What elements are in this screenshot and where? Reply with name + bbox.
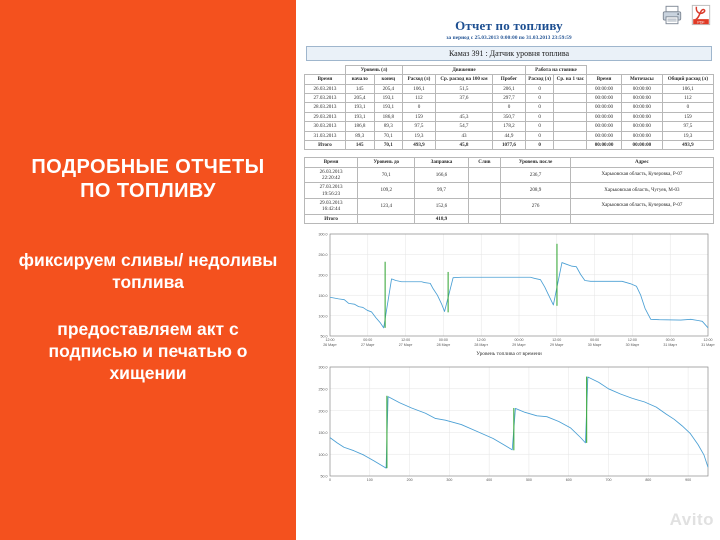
- col-level-end: конец: [374, 75, 403, 84]
- svg-text:300: 300: [446, 478, 452, 482]
- table-total-cell: 493,9: [403, 140, 436, 149]
- table-cell: 106,1: [403, 84, 436, 93]
- table-cell: [554, 103, 587, 112]
- svg-text:00:00: 00:00: [666, 338, 675, 342]
- col-mileage: Пробег: [493, 75, 526, 84]
- events-total-cell: [570, 214, 713, 223]
- fuel-summary-body: 26.03.2013145205,4106,151,5206,1000:00:0…: [305, 84, 714, 150]
- table-cell: [554, 131, 587, 140]
- table-cell: 00:00:00: [587, 84, 622, 93]
- event-cell: 208,9: [501, 183, 571, 199]
- svg-text:300.0: 300.0: [319, 366, 328, 370]
- col-idle-consumption: Расход (л): [525, 75, 554, 84]
- event-cell: 29.03.201316:42:44: [305, 199, 358, 215]
- event-cell: 27.03.201319:56:23: [305, 183, 358, 199]
- promo-line-1: фиксируем сливы/ недоливы топлива: [16, 250, 280, 294]
- chart1-axis-title: Уровень топлива от времени: [304, 351, 714, 357]
- ev-col-level-after: Уровень после: [501, 158, 571, 167]
- table-row: 29.03.2013193,1186,815945,3350,7000:00:0…: [305, 112, 714, 121]
- ev-col-level-before: Уровень до: [358, 158, 415, 167]
- table-total-cell: Итого: [305, 140, 346, 149]
- svg-text:29 Март: 29 Март: [512, 343, 526, 347]
- table-total-cell: 00:00:00: [621, 140, 662, 149]
- table-cell: 27.03.2013: [305, 94, 346, 103]
- svg-text:600: 600: [566, 478, 572, 482]
- svg-text:12:00: 12:00: [628, 338, 637, 342]
- events-total-cell: [358, 214, 415, 223]
- pdf-icon[interactable]: PDF: [690, 4, 712, 26]
- table-total-cell: 493,9: [662, 140, 713, 149]
- svg-text:30 Март: 30 Март: [588, 343, 602, 347]
- table-cell: 205,4: [374, 84, 403, 93]
- svg-text:200: 200: [407, 478, 413, 482]
- table-cell: 205,4: [345, 94, 374, 103]
- svg-text:200.0: 200.0: [319, 274, 328, 278]
- chart-level-vs-time-svg: 50.0100.0150.0200.0250.0300.012:0026 Мар…: [304, 230, 716, 352]
- event-address: Харьковская область, Чугуев, М-03: [570, 183, 713, 199]
- svg-text:50.0: 50.0: [321, 475, 328, 479]
- chart-level-vs-mileage: 50.0100.0150.0200.0250.0300.001002003004…: [304, 363, 714, 488]
- table-cell: 0: [662, 103, 713, 112]
- table-cell: 00:00:00: [587, 122, 622, 131]
- table-cell: 193,1: [345, 112, 374, 121]
- table-cell: 19,3: [403, 131, 436, 140]
- svg-text:29 Март: 29 Март: [550, 343, 564, 347]
- table-cell: 29.03.2013: [305, 112, 346, 121]
- group-header-blank-4: [662, 66, 713, 75]
- promo-title: ПОДРОБНЫЕ ОТЧЕТЫ ПО ТОПЛИВУ: [16, 155, 280, 204]
- report-toolbar: PDF: [661, 4, 712, 26]
- table-cell: 70,1: [374, 131, 403, 140]
- event-cell: 152,6: [415, 199, 468, 215]
- table-row: 31.03.201389,370,119,34344,9000:00:0000:…: [305, 131, 714, 140]
- group-header-level: Уровень (л): [345, 66, 402, 75]
- table-cell: 19,3: [662, 131, 713, 140]
- table-cell: 206,1: [493, 84, 526, 93]
- col-level-start: начало: [345, 75, 374, 84]
- svg-text:250.0: 250.0: [319, 388, 328, 392]
- events-total-cell: [468, 214, 501, 223]
- event-cell: 70,1: [358, 167, 415, 183]
- list-item: 29.03.201316:42:44123,4152,6276Харьковск…: [305, 199, 714, 215]
- table-total-cell: 45,8: [435, 140, 492, 149]
- events-header-row: Время Уровень до Заправка Слив Уровень п…: [305, 158, 714, 167]
- ev-col-refuel: Заправка: [415, 158, 468, 167]
- table-row: 30.03.2013186,889,397,554,7178,2000:00:0…: [305, 122, 714, 131]
- svg-text:28 Март: 28 Март: [437, 343, 451, 347]
- table-row: 26.03.2013145205,4106,151,5206,1000:00:0…: [305, 84, 714, 93]
- table-cell: 0: [525, 122, 554, 131]
- table-cell: 30.03.2013: [305, 122, 346, 131]
- event-cell: [468, 199, 501, 215]
- table-cell: 0: [493, 103, 526, 112]
- page-title: Отчет по топливу: [304, 18, 714, 34]
- table-cell: 159: [662, 112, 713, 121]
- svg-text:800: 800: [645, 478, 651, 482]
- event-cell: 276: [501, 199, 571, 215]
- table-total-cell: 70,1: [374, 140, 403, 149]
- table-cell: 00:00:00: [587, 131, 622, 140]
- svg-text:26 Март: 26 Март: [323, 343, 337, 347]
- table-group-header-row: Уровень (л) Движение Работа на стоянке: [305, 66, 714, 75]
- svg-text:500: 500: [526, 478, 532, 482]
- table-cell: 0: [403, 103, 436, 112]
- table-cell: 97,5: [403, 122, 436, 131]
- event-cell: 236,7: [501, 167, 571, 183]
- table-total-cell: 1077,6: [493, 140, 526, 149]
- table-total-cell: 145: [345, 140, 374, 149]
- svg-text:100.0: 100.0: [319, 314, 328, 318]
- group-header-blank-3: [621, 66, 662, 75]
- svg-text:400: 400: [486, 478, 492, 482]
- table-row: 28.03.2013193,1193,100000:00:0000:00:000: [305, 103, 714, 112]
- events-total-cell: 418,9: [415, 214, 468, 223]
- svg-text:300.0: 300.0: [319, 233, 328, 237]
- avito-watermark: Avito: [670, 510, 714, 530]
- svg-text:12:00: 12:00: [704, 338, 713, 342]
- fuel-events-table: Время Уровень до Заправка Слив Уровень п…: [304, 157, 714, 224]
- report-panel: PDF Отчет по топливу за период с 25.03.2…: [296, 0, 720, 540]
- svg-text:28 Март: 28 Март: [474, 343, 488, 347]
- table-cell: 45,3: [435, 112, 492, 121]
- ev-col-address: Адрес: [570, 158, 713, 167]
- fuel-events-body: 26.03.201322:20:4270,1166,6236,7Харьковс…: [305, 167, 714, 224]
- event-address: Харьковская область, Кучеровка, Р-07: [570, 167, 713, 183]
- events-total-row: Итого418,9: [305, 214, 714, 223]
- svg-text:00:00: 00:00: [363, 338, 372, 342]
- table-cell: 297,7: [493, 94, 526, 103]
- table-cell: 00:00:00: [621, 112, 662, 121]
- table-cell: 0: [525, 131, 554, 140]
- table-cell: 51,5: [435, 84, 492, 93]
- table-cell: 0: [525, 94, 554, 103]
- svg-text:31 Март: 31 Март: [663, 343, 677, 347]
- table-cell: [435, 103, 492, 112]
- table-cell: 145: [345, 84, 374, 93]
- table-cell: 106,1: [662, 84, 713, 93]
- events-total-cell: [501, 214, 571, 223]
- table-cell: 00:00:00: [587, 94, 622, 103]
- col-avg-per-100km: Ср. расход на 100 км: [435, 75, 492, 84]
- event-address: Харьковская область, Кучеровка, Р-07: [570, 199, 713, 215]
- table-cell: 00:00:00: [621, 94, 662, 103]
- table-cell: 00:00:00: [621, 103, 662, 112]
- svg-text:PDF: PDF: [697, 20, 705, 24]
- table-cell: [554, 112, 587, 121]
- table-total-cell: 00:00:00: [587, 140, 622, 149]
- table-cell: 159: [403, 112, 436, 121]
- svg-text:100.0: 100.0: [319, 453, 328, 457]
- table-cell: 43: [435, 131, 492, 140]
- event-cell: 166,6: [415, 167, 468, 183]
- fuel-summary-table: Уровень (л) Движение Работа на стоянке В…: [304, 65, 714, 150]
- table-cell: 0: [525, 103, 554, 112]
- table-cell: 193,1: [345, 103, 374, 112]
- table-total-row: Итого14570,1493,945,81077,6000:00:0000:0…: [305, 140, 714, 149]
- svg-text:200.0: 200.0: [319, 409, 328, 413]
- print-icon[interactable]: [661, 4, 683, 26]
- svg-text:100: 100: [367, 478, 373, 482]
- ev-col-time: Время: [305, 158, 358, 167]
- table-cell: 186,8: [374, 112, 403, 121]
- chart-level-vs-mileage-svg: 50.0100.0150.0200.0250.0300.001002003004…: [304, 363, 716, 488]
- table-cell: 28.03.2013: [305, 103, 346, 112]
- svg-text:00:00: 00:00: [515, 338, 524, 342]
- col-avg-per-hour: Ср. на 1 час: [554, 75, 587, 84]
- group-header-idle: Работа на стоянке: [525, 66, 586, 75]
- svg-text:700: 700: [606, 478, 612, 482]
- table-cell: 89,3: [345, 131, 374, 140]
- list-item: 26.03.201322:20:4270,1166,6236,7Харьковс…: [305, 167, 714, 183]
- promo-line-2: предоставляем акт с подписью и печатью о…: [16, 319, 280, 385]
- svg-text:00:00: 00:00: [439, 338, 448, 342]
- svg-text:27 Март: 27 Март: [399, 343, 413, 347]
- table-cell: 00:00:00: [587, 103, 622, 112]
- table-cell: 0: [525, 112, 554, 121]
- table-cell: 97,5: [662, 122, 713, 131]
- table-cell: 112: [662, 94, 713, 103]
- event-cell: [468, 167, 501, 183]
- table-cell: 178,2: [493, 122, 526, 131]
- table-cell: 186,8: [345, 122, 374, 131]
- report-period: за период с 25.03.2013 0:00:00 по 31.03.…: [304, 35, 714, 41]
- object-bar: Камаз 391 : Датчик уровня топлива: [306, 46, 712, 61]
- table-cell: 00:00:00: [587, 112, 622, 121]
- table-cell: [554, 94, 587, 103]
- table-cell: 44,9: [493, 131, 526, 140]
- events-total-cell: Итого: [305, 214, 358, 223]
- table-header-row: Время начало конец Расход (л) Ср. расход…: [305, 75, 714, 84]
- svg-text:00:00: 00:00: [590, 338, 599, 342]
- table-cell: 350,7: [493, 112, 526, 121]
- promo-panel: ПОДРОБНЫЕ ОТЧЕТЫ ПО ТОПЛИВУ фиксируем сл…: [0, 0, 296, 540]
- table-row: 27.03.2013205,4193,111237,6297,7000:00:0…: [305, 94, 714, 103]
- event-cell: [468, 183, 501, 199]
- table-cell: 54,7: [435, 122, 492, 131]
- table-total-cell: [554, 140, 587, 149]
- table-cell: 00:00:00: [621, 84, 662, 93]
- svg-text:12:00: 12:00: [552, 338, 561, 342]
- svg-text:31 Март: 31 Март: [701, 343, 715, 347]
- group-header-blank-2: [587, 66, 622, 75]
- table-cell: 37,6: [435, 94, 492, 103]
- group-header-blank: [305, 66, 346, 75]
- table-cell: 31.03.2013: [305, 131, 346, 140]
- svg-text:900: 900: [685, 478, 691, 482]
- col-time: Время: [305, 75, 346, 84]
- chart-level-vs-time: 50.0100.0150.0200.0250.0300.012:0026 Мар…: [304, 230, 714, 357]
- table-total-cell: 0: [525, 140, 554, 149]
- col-engine-hours: Моточасы: [621, 75, 662, 84]
- event-cell: 26.03.201322:20:42: [305, 167, 358, 183]
- table-cell: 0: [525, 84, 554, 93]
- svg-text:12:00: 12:00: [401, 338, 410, 342]
- event-cell: 99,7: [415, 183, 468, 199]
- event-cell: 109,2: [358, 183, 415, 199]
- table-cell: 193,1: [374, 103, 403, 112]
- group-header-movement: Движение: [403, 66, 526, 75]
- svg-text:150.0: 150.0: [319, 431, 328, 435]
- svg-text:0: 0: [329, 478, 331, 482]
- list-item: 27.03.201319:56:23109,299,7208,9Харьковс…: [305, 183, 714, 199]
- svg-text:12:00: 12:00: [326, 338, 335, 342]
- table-cell: 112: [403, 94, 436, 103]
- table-cell: 193,1: [374, 94, 403, 103]
- col-idle-time: Время: [587, 75, 622, 84]
- col-consumption: Расход (л): [403, 75, 436, 84]
- svg-text:30 Март: 30 Март: [626, 343, 640, 347]
- svg-text:250.0: 250.0: [319, 253, 328, 257]
- svg-text:12:00: 12:00: [477, 338, 486, 342]
- table-cell: 00:00:00: [621, 131, 662, 140]
- svg-text:27 Март: 27 Март: [361, 343, 375, 347]
- table-cell: [554, 84, 587, 93]
- table-cell: [554, 122, 587, 131]
- table-cell: 89,3: [374, 122, 403, 131]
- event-cell: 123,4: [358, 199, 415, 215]
- table-cell: 26.03.2013: [305, 84, 346, 93]
- ev-col-drain: Слив: [468, 158, 501, 167]
- table-cell: 00:00:00: [621, 122, 662, 131]
- col-total-consumption: Общий расход (л): [662, 75, 713, 84]
- svg-text:150.0: 150.0: [319, 294, 328, 298]
